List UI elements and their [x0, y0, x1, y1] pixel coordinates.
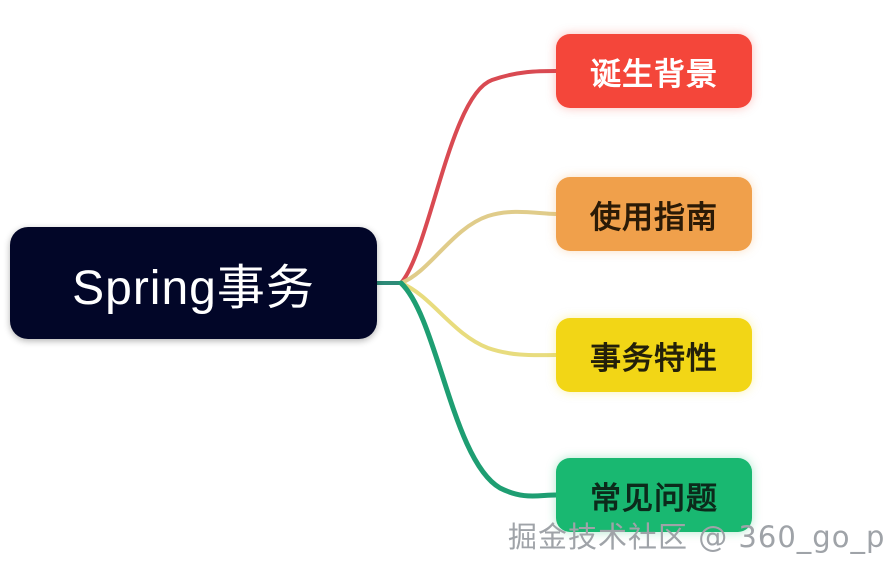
mindmap-branch-label-3: 常见问题 — [590, 473, 718, 518]
watermark-text: 掘金技术社区 @ 360_go_php — [508, 514, 886, 556]
edge-to-branch-3 — [401, 283, 556, 496]
mindmap-branch-node-1[interactable]: 使用指南 — [556, 177, 752, 251]
edge-to-branch-1 — [401, 212, 556, 283]
mindmap-branch-label-2: 事务特性 — [590, 333, 718, 378]
mindmap-branch-label-0: 诞生背景 — [590, 49, 718, 94]
mindmap-branch-node-0[interactable]: 诞生背景 — [556, 34, 752, 108]
mindmap-root-node[interactable]: Spring事务 — [10, 227, 377, 339]
mindmap-branch-label-1: 使用指南 — [590, 192, 718, 237]
mindmap-canvas: Spring事务 诞生背景 使用指南 事务特性 常见问题 掘金技术社区 @ 36… — [0, 0, 886, 564]
edge-to-branch-0 — [401, 71, 556, 283]
mindmap-root-label: Spring事务 — [72, 248, 315, 318]
mindmap-branch-node-2[interactable]: 事务特性 — [556, 318, 752, 392]
